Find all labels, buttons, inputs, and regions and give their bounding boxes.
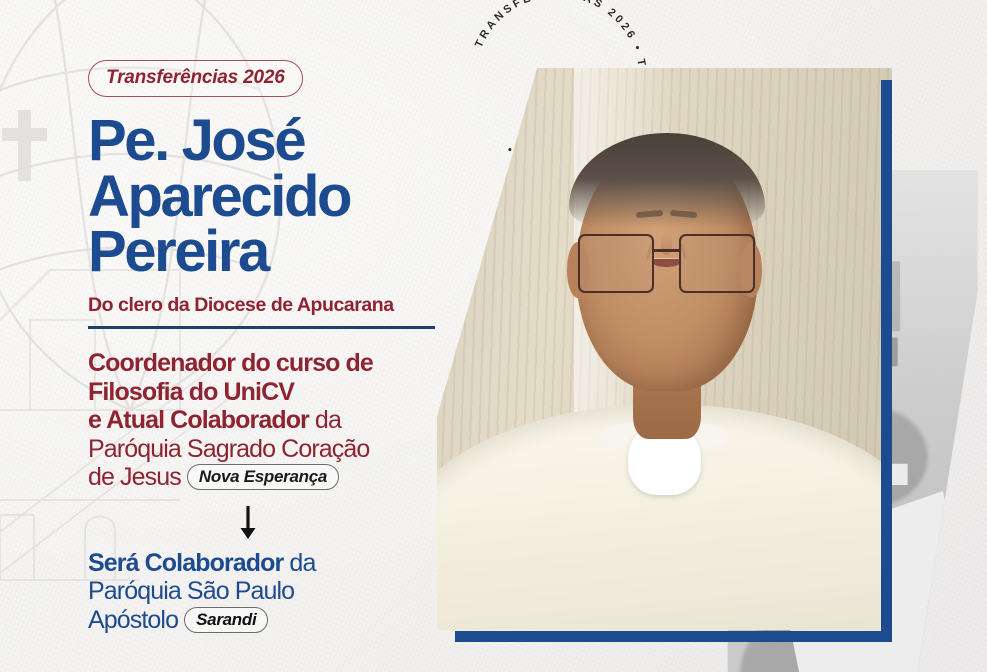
- current-role-line-3: e Atual Colaborador: [88, 406, 309, 434]
- transfer-announcement-poster: TRANSFERÊNCIAS 2026 • TRANSFERÊNCIAS 202…: [0, 0, 987, 672]
- divider-rule: [88, 326, 435, 329]
- photo-blue-frame: [455, 80, 892, 642]
- name-line-3: Pereira: [88, 224, 448, 280]
- current-parish-line-2: de Jesus: [88, 463, 181, 491]
- new-role-line-1: Será Colaborador: [88, 549, 283, 577]
- priest-name: Pe. José Aparecido Pereira: [88, 113, 448, 280]
- current-role-line-2: Filosofia do UniCV: [88, 378, 294, 406]
- down-arrow-icon: [238, 506, 258, 545]
- name-line-1: Pe. José: [88, 113, 448, 169]
- name-line-2: Aparecido: [88, 169, 448, 225]
- transfer-year-badge: Transferências 2026: [88, 60, 303, 97]
- clergy-origin: Do clero da Diocese de Apucarana: [88, 294, 448, 317]
- new-role-line-1-rest: da: [283, 549, 315, 577]
- current-role-block: Coordenador do curso de Filosofia do Uni…: [88, 349, 448, 492]
- current-role-line-1: Coordenador do curso de: [88, 349, 373, 377]
- new-city-pill: Sarandi: [184, 607, 268, 633]
- new-role-block: Será Colaborador da Paróquia São Paulo A…: [88, 549, 448, 635]
- current-role-line-3-rest: da: [309, 406, 341, 434]
- priest-photo: [437, 68, 892, 642]
- current-parish-line-1: Paróquia Sagrado Coração: [88, 435, 448, 464]
- new-parish-line-2: Apóstolo: [88, 606, 178, 634]
- new-parish-line-1: Paróquia São Paulo: [88, 577, 448, 606]
- poster-content: Transferências 2026 Pe. José Aparecido P…: [88, 60, 448, 634]
- current-city-pill: Nova Esperança: [187, 464, 339, 490]
